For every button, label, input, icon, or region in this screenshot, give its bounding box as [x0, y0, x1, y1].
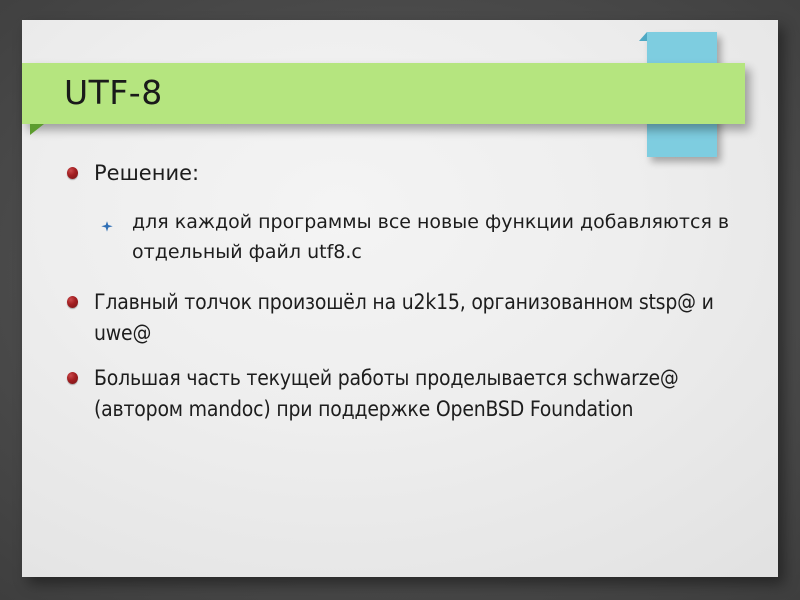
bullet-text: Главный толчок произошёл на u2k15, орган…	[94, 287, 764, 349]
title-banner-fold-icon	[30, 124, 44, 135]
accent-blue-bar-notch-icon	[639, 32, 647, 41]
blue-star-bullet-icon	[101, 218, 113, 230]
bullet-text: Большая часть текущей работы проделывает…	[94, 363, 764, 425]
slide-canvas: UTF-8 Решение: для каждой программы все …	[22, 20, 778, 577]
red-sphere-bullet-icon	[67, 372, 78, 384]
slide-title: UTF-8	[64, 72, 163, 114]
bullet-item: Главный толчок произошёл на u2k15, орган…	[64, 287, 764, 349]
bullet-text: Решение:	[94, 158, 764, 189]
sub-bullet-text: для каждой программы все новые функции д…	[132, 207, 764, 267]
sub-bullet-item: для каждой программы все новые функции д…	[64, 207, 764, 267]
bullet-item: Большая часть текущей работы проделывает…	[64, 363, 764, 425]
bullet-item: Решение:	[64, 158, 764, 189]
red-sphere-bullet-icon	[67, 296, 78, 308]
red-sphere-bullet-icon	[67, 167, 78, 179]
slide-body: Решение: для каждой программы все новые …	[64, 158, 764, 439]
presentation-stage: UTF-8 Решение: для каждой программы все …	[0, 0, 800, 600]
